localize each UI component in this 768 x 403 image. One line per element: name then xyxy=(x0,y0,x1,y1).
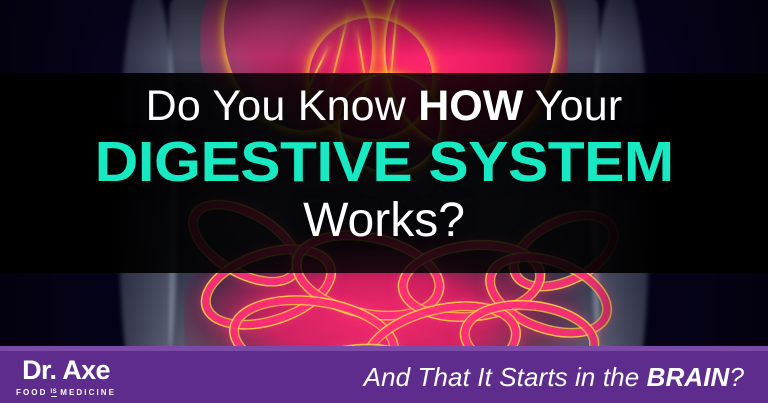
logo-tagline-is: IS xyxy=(51,389,58,397)
logo-wordmark: Dr. Axe xyxy=(22,357,110,384)
footer-content: Dr. Axe FOOD IS MEDICINE And That It Sta… xyxy=(0,351,768,403)
footer-caption-emphasis: BRAIN xyxy=(647,362,730,392)
headline-line-1-suffix: Your xyxy=(523,82,622,130)
headline-block: Do You Know HOW Your DIGESTIVE SYSTEM Wo… xyxy=(0,73,768,273)
footer-bar: Dr. Axe FOOD IS MEDICINE And That It Sta… xyxy=(0,346,768,403)
logo-tagline: FOOD IS MEDICINE xyxy=(16,389,116,397)
footer-caption: And That It Starts in the BRAIN? xyxy=(364,362,750,393)
logo-tagline-food: FOOD xyxy=(16,389,48,397)
footer-caption-prefix: And That It Starts in the xyxy=(364,362,647,392)
headline-line-3: Works? xyxy=(303,197,465,245)
headline-line-1-emphasis: HOW xyxy=(418,82,523,130)
headline-line-2: DIGESTIVE SYSTEM xyxy=(94,134,673,191)
dr-axe-logo[interactable]: Dr. Axe FOOD IS MEDICINE xyxy=(16,357,116,397)
headline-line-1: Do You Know HOW Your xyxy=(146,85,623,128)
headline-line-1-prefix: Do You Know xyxy=(146,82,419,130)
footer-caption-suffix: ? xyxy=(729,362,744,392)
digestive-system-banner: Do You Know HOW Your DIGESTIVE SYSTEM Wo… xyxy=(0,0,768,403)
logo-tagline-medicine: MEDICINE xyxy=(60,389,116,397)
